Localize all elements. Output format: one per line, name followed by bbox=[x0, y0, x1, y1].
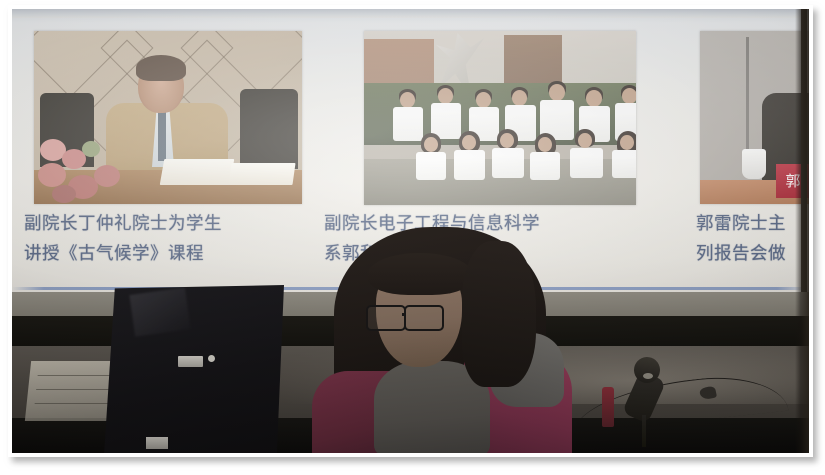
panel2-building-right bbox=[504, 35, 562, 87]
laptop-indicator-dot bbox=[208, 355, 215, 362]
panel3-pole bbox=[746, 37, 749, 163]
panel1-man-tie bbox=[158, 109, 166, 161]
drink-bottle bbox=[602, 387, 614, 427]
panel1-chair-right bbox=[240, 89, 298, 169]
microphone-ring bbox=[643, 373, 653, 379]
microphone-stem bbox=[642, 415, 646, 447]
laptop-screen-glare bbox=[129, 287, 190, 336]
panel1-flower bbox=[94, 165, 120, 187]
glasses-left-lens bbox=[366, 305, 406, 331]
slide-panel-1-caption: 副院长丁仲礼院士为学生 讲授《古气候学》课程 bbox=[24, 209, 222, 269]
glasses-right-lens bbox=[404, 305, 444, 331]
slide-panel-3-image: 郭 bbox=[700, 31, 809, 204]
panel1-paper bbox=[228, 163, 295, 185]
photograph: 郭 副院长丁仲礼院士为学生 讲授《古气候学》课程 副院长电子工程与信息科学 系郭… bbox=[12, 9, 809, 453]
slide-panel-2-image bbox=[364, 31, 636, 205]
panel3-cup bbox=[742, 149, 766, 179]
glasses-bridge bbox=[402, 313, 406, 316]
panel1-caption-line1: 副院长丁仲礼院士为学生 bbox=[24, 209, 222, 239]
panel3-caption-line2: 列报告会做 bbox=[696, 239, 786, 269]
laptop-sticker bbox=[146, 437, 168, 449]
person-hair-fringe bbox=[368, 253, 472, 295]
photo-frame: 郭 副院长丁仲礼院士为学生 讲授《古气候学》课程 副院长电子工程与信息科学 系郭… bbox=[8, 5, 813, 457]
panel1-paper bbox=[160, 159, 235, 185]
panel1-flower bbox=[38, 163, 66, 187]
panel3-caption-line1: 郭雷院士主 bbox=[696, 209, 786, 239]
slide-panel-1-image bbox=[34, 31, 302, 204]
screen-top-edge bbox=[12, 9, 809, 18]
person-hair-right bbox=[462, 241, 536, 387]
screenshot-root: 郭 副院长丁仲礼院士为学生 讲授《古气候学》课程 副院长电子工程与信息科学 系郭… bbox=[0, 0, 825, 475]
panel1-caption-line2: 讲授《古气候学》课程 bbox=[24, 239, 222, 269]
panel1-flower bbox=[52, 185, 76, 203]
panel1-flower-bouquet bbox=[38, 135, 122, 203]
slide-panel-3-caption: 郭雷院士主 列报告会做 bbox=[696, 209, 786, 269]
laptop-logo-badge bbox=[178, 356, 203, 367]
seated-person bbox=[312, 221, 572, 453]
panel1-foliage bbox=[82, 141, 100, 157]
panel1-man-hair bbox=[136, 55, 186, 81]
room-right-shadow bbox=[795, 9, 809, 453]
